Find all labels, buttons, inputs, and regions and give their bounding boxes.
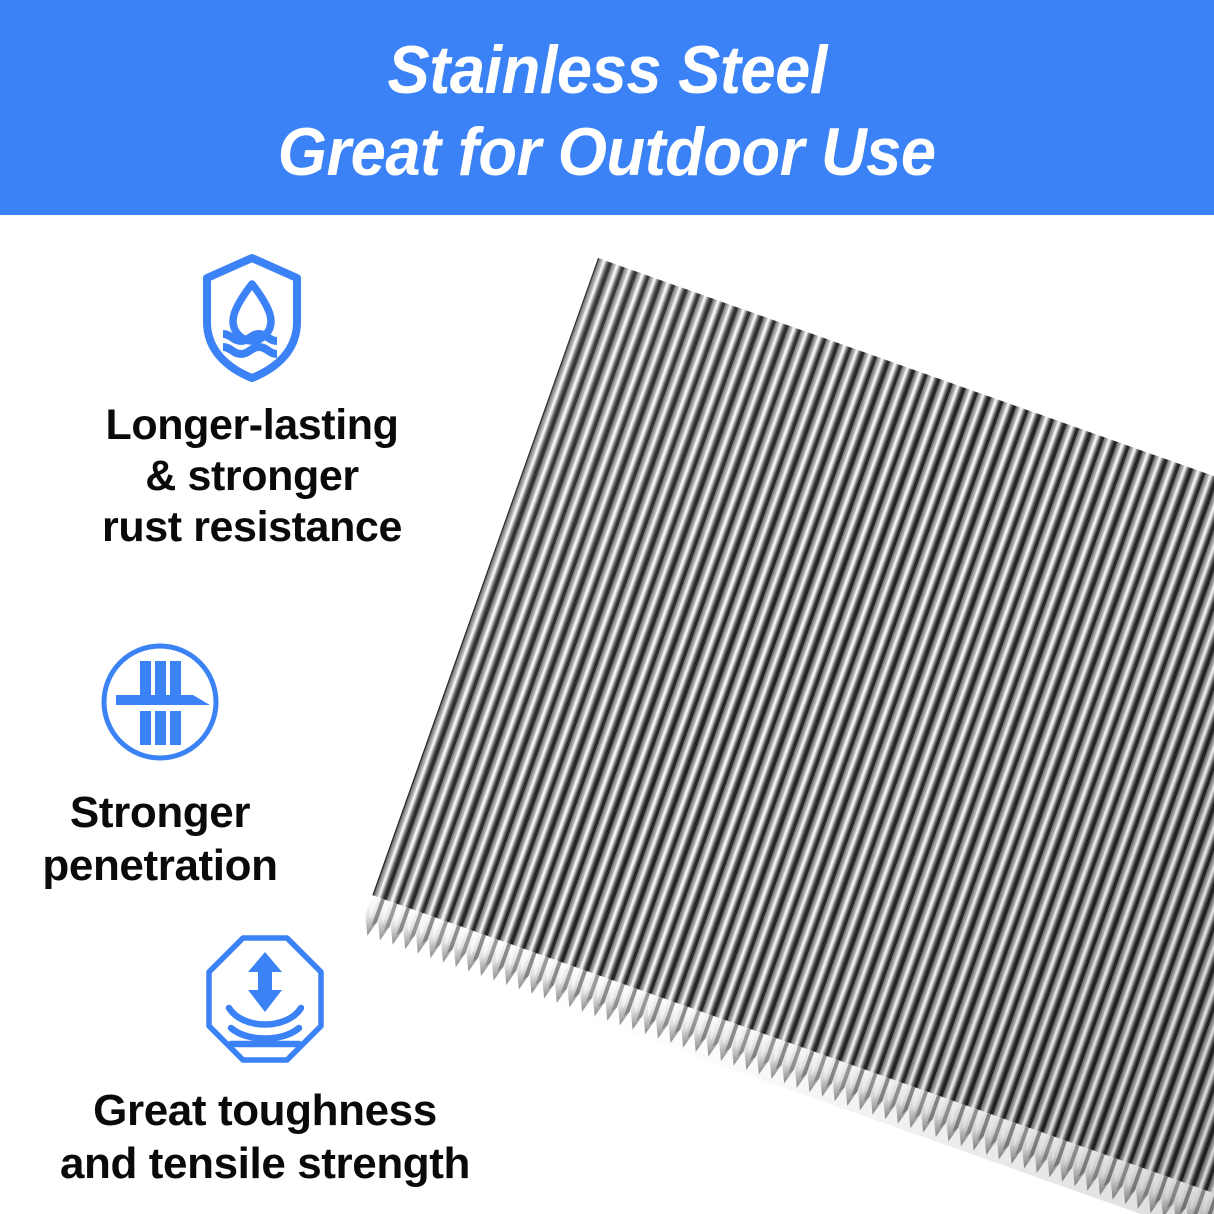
banner-title-line-2: Great for Outdoor Use (278, 111, 936, 193)
feature-rust-resistance: Longer-lasting & stronger rust resistanc… (52, 252, 452, 553)
shield-water-drop-icon (193, 252, 311, 384)
header-banner: Stainless Steel Great for Outdoor Use (0, 0, 1214, 215)
feature-tensile-strength: Great toughness and tensile strength (30, 932, 500, 1190)
feature-tensile-strength-caption: Great toughness and tensile strength (60, 1084, 470, 1190)
feature-stronger-penetration-caption: Stronger penetration (42, 786, 277, 892)
banner-title-line-1: Stainless Steel (387, 29, 826, 111)
penetration-arrow-icon (96, 638, 224, 766)
feature-rust-resistance-caption: Longer-lasting & stronger rust resistanc… (102, 400, 402, 553)
feature-stronger-penetration: Stronger penetration (0, 638, 320, 892)
infographic-page: Stainless Steel Great for Outdoor Use (0, 0, 1214, 1214)
tensile-strength-icon (199, 932, 331, 1066)
